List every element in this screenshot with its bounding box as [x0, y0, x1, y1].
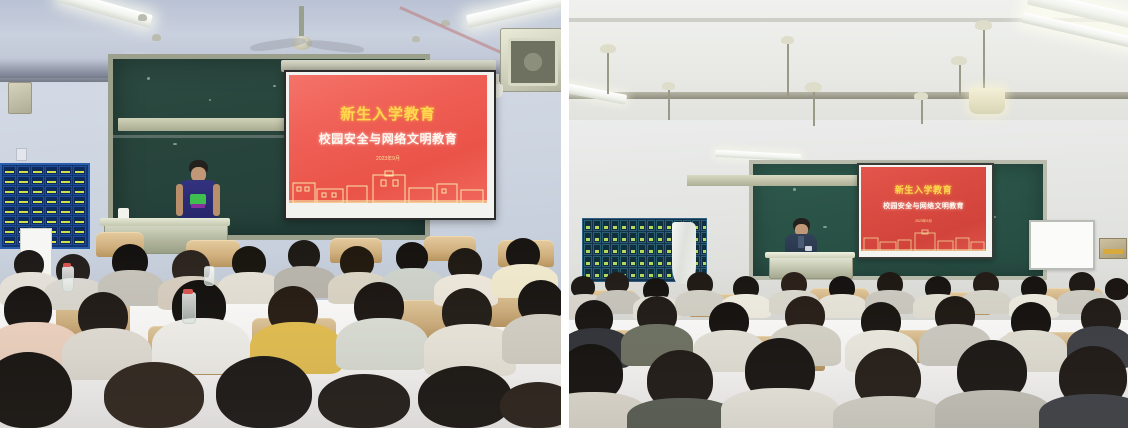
seat-chart-cell [17, 196, 30, 205]
seat-chart-cell [59, 166, 72, 175]
seat-chart-cell [3, 236, 16, 245]
seat-chart-cell [73, 226, 86, 235]
seat-chart-cell [59, 236, 72, 245]
seat-chart-cell [629, 220, 637, 231]
seat-chart-cell [602, 232, 610, 243]
whiteboard [1029, 220, 1095, 270]
presenter-shirt [179, 180, 217, 222]
seat-chart-cell [31, 206, 44, 215]
left-photo-panel: 新生入学教育 校园安全与网络文明教育 2023年9月 [0, 0, 561, 428]
left-foreground-shade [0, 250, 561, 428]
seat-chart-cell [620, 220, 628, 231]
panel-divider [561, 0, 569, 428]
seat-chart-cell [629, 232, 637, 243]
slide-title: 新生入学教育 [861, 183, 986, 196]
seat-chart-cell [638, 244, 646, 255]
seat-chart-cell [45, 216, 58, 225]
seat-chart-cell [701, 232, 707, 243]
presentation-slide: 新生入学教育 校园安全与网络文明教育 2023年9月 [861, 167, 986, 251]
seat-chart-cell [17, 166, 30, 175]
campus-skyline-graphic [289, 169, 487, 203]
fan-rod [983, 24, 985, 90]
seat-chart-cell [620, 232, 628, 243]
seat-chart-cell [17, 206, 30, 215]
seat-chart-cell [593, 232, 601, 243]
right-foreground-shade [569, 265, 1128, 428]
seat-chart-cell [3, 186, 16, 195]
seat-chart-cell [647, 232, 655, 243]
fan-rod [921, 96, 923, 124]
right-photo-panel: 新生入学教育 校园安全与网络文明教育 2023年9月 [569, 0, 1128, 428]
pendant-lamp [969, 88, 1005, 114]
seat-chart-cell [638, 232, 646, 243]
seat-chart-cell [3, 176, 16, 185]
fan-rod [959, 60, 961, 96]
wall-speaker [8, 82, 32, 114]
seat-chart-cell [45, 206, 58, 215]
framed-wall-sign [1099, 238, 1127, 259]
fan-rod [787, 40, 789, 96]
fan-mount [914, 92, 928, 100]
seat-chart-cell [31, 196, 44, 205]
fan-mount [951, 56, 967, 65]
seat-chart-cell [17, 216, 30, 225]
slide-title: 新生入学教育 [289, 103, 487, 124]
ceiling-mount [138, 14, 147, 21]
seat-chart-cell [73, 196, 86, 205]
fan-mount [975, 20, 992, 30]
seat-chart-cell [73, 176, 86, 185]
chalkboard-tray [118, 118, 294, 131]
seat-chart-cell [701, 244, 707, 255]
seat-chart-cell [31, 216, 44, 225]
ceiling-beam [569, 92, 1128, 99]
ceiling-mount [152, 34, 161, 41]
slide-date: 2023年9月 [861, 219, 986, 224]
seat-chart-cell [17, 176, 30, 185]
seat-chart-cell [593, 220, 601, 231]
seat-chart-cell [584, 244, 592, 255]
fan-mount [662, 82, 675, 90]
seat-chart-cell [647, 220, 655, 231]
seat-chart-cell [59, 226, 72, 235]
seat-chart-cell [629, 244, 637, 255]
seat-chart-cell [59, 216, 72, 225]
podium-top [100, 218, 230, 226]
fan-mount [600, 44, 616, 53]
seat-chart-cell [584, 232, 592, 243]
seat-chart-cell [638, 220, 646, 231]
seat-chart-cell [593, 244, 601, 255]
fan-mount [781, 36, 794, 44]
seat-chart-cell [656, 244, 664, 255]
slide-subtitle: 校园安全与网络文明教育 [289, 130, 487, 147]
light-switch[interactable] [16, 148, 27, 161]
presentation-slide: 新生入学教育 校园安全与网络文明教育 2023年9月 [289, 75, 487, 203]
seat-chart-cell [73, 236, 86, 245]
slide-date: 2023年9月 [289, 155, 487, 162]
podium-top [765, 252, 855, 258]
seat-chart-cell [59, 186, 72, 195]
seat-chart-cell [611, 244, 619, 255]
seat-chart-cell [45, 196, 58, 205]
seat-chart-cell [59, 196, 72, 205]
seat-chart-cell [611, 220, 619, 231]
seat-chart-cell [59, 176, 72, 185]
screenshot-root: 新生入学教育 校园安全与网络文明教育 2023年9月 [0, 0, 1128, 428]
ceiling-mount [412, 36, 420, 42]
seat-chart-cell [31, 176, 44, 185]
seat-chart-cell [647, 244, 655, 255]
seat-chart-cell [45, 166, 58, 175]
seat-chart-cell [611, 232, 619, 243]
seat-chart-cell [73, 186, 86, 195]
seat-chart-cell [584, 220, 592, 231]
seat-chart-cell [3, 166, 16, 175]
seat-chart-cell [3, 196, 16, 205]
seat-chart-cell [45, 176, 58, 185]
ceiling-fan-rod [299, 6, 304, 38]
fan-mount [805, 82, 822, 92]
fan-rod [813, 86, 815, 126]
seat-chart-cell [45, 186, 58, 195]
seat-chart-cell [59, 206, 72, 215]
seat-chart-cell [73, 166, 86, 175]
seat-chart-cell [656, 232, 664, 243]
seat-chart-cell [602, 220, 610, 231]
seat-chart-cell [620, 244, 628, 255]
seat-chart-cell [701, 220, 707, 231]
seat-chart-cell [31, 186, 44, 195]
slide-subtitle: 校园安全与网络文明教育 [861, 201, 986, 211]
seat-chart-cell [602, 244, 610, 255]
seat-chart-cell [73, 206, 86, 215]
seat-chart-cell [73, 216, 86, 225]
seat-chart-cell [3, 206, 16, 215]
fan-rod [668, 86, 670, 120]
seat-chart-cell [17, 186, 30, 195]
seat-chart-cell [656, 220, 664, 231]
fan-rod [607, 48, 609, 94]
seat-chart-cell [31, 166, 44, 175]
seat-chart-cell [3, 216, 16, 225]
campus-skyline-graphic [861, 229, 986, 251]
air-conditioner-grill [508, 38, 558, 86]
seat-chart-cell [3, 226, 16, 235]
